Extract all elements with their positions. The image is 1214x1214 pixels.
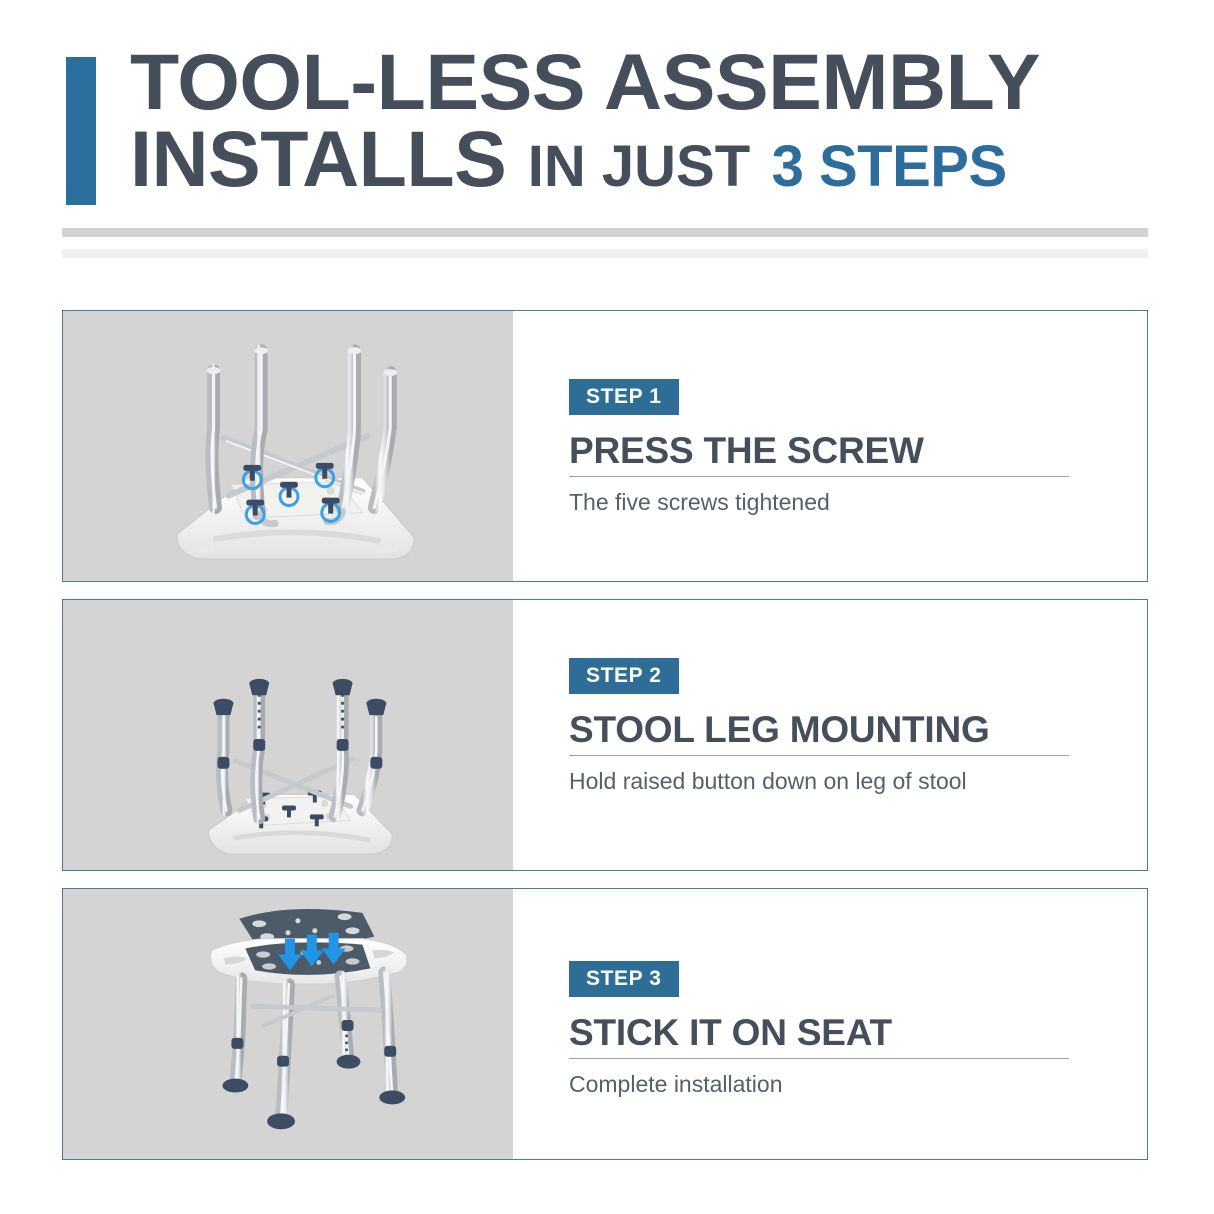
step-1-rule	[569, 476, 1069, 478]
headline-in-just: IN JUST	[528, 134, 750, 199]
step-2-rule	[569, 755, 1069, 757]
step-2-description: Hold raised button down on leg of stool	[569, 766, 1039, 796]
step-1-title: PRESS THE SCREW	[569, 432, 1147, 471]
headline-line-1: TOOL-LESS ASSEMBLY	[130, 46, 1170, 119]
step-card-3: STEP 3 STICK IT ON SEAT Complete install…	[62, 888, 1148, 1160]
header-divider-thick	[62, 228, 1148, 237]
step-1-badge: STEP 1	[569, 379, 679, 415]
steps-list: STEP 1 PRESS THE SCREW The five screws t…	[0, 310, 1214, 1177]
step-2-image	[63, 600, 513, 870]
step-1-description: The five screws tightened	[569, 487, 1039, 517]
step-3-badge: STEP 3	[569, 961, 679, 997]
step-card-1: STEP 1 PRESS THE SCREW The five screws t…	[62, 310, 1148, 582]
header-accent-bar	[66, 57, 96, 205]
headline-3-steps: 3 STEPS	[772, 134, 1007, 199]
header-title-block: TOOL-LESS ASSEMBLY INSTALLS IN JUST 3 ST…	[130, 46, 1150, 195]
step-3-description: Complete installation	[569, 1069, 1039, 1099]
step-2-badge: STEP 2	[569, 658, 679, 694]
step-2-title: STOOL LEG MOUNTING	[569, 711, 1147, 750]
step-1-image	[63, 311, 513, 581]
header: TOOL-LESS ASSEMBLY INSTALLS IN JUST 3 ST…	[0, 0, 1214, 275]
step-3-title: STICK IT ON SEAT	[569, 1014, 1147, 1053]
step-2-body: STEP 2 STOOL LEG MOUNTING Hold raised bu…	[513, 600, 1147, 870]
step-3-rule	[569, 1058, 1069, 1060]
step-3-body: STEP 3 STICK IT ON SEAT Complete install…	[513, 889, 1147, 1159]
headline-installs: INSTALLS	[130, 114, 506, 203]
header-divider-thin	[62, 249, 1148, 258]
step-3-image	[63, 889, 513, 1159]
step-card-2: STEP 2 STOOL LEG MOUNTING Hold raised bu…	[62, 599, 1148, 871]
headline-line-2: INSTALLS IN JUST 3 STEPS	[130, 123, 1150, 196]
step-1-body: STEP 1 PRESS THE SCREW The five screws t…	[513, 311, 1147, 581]
